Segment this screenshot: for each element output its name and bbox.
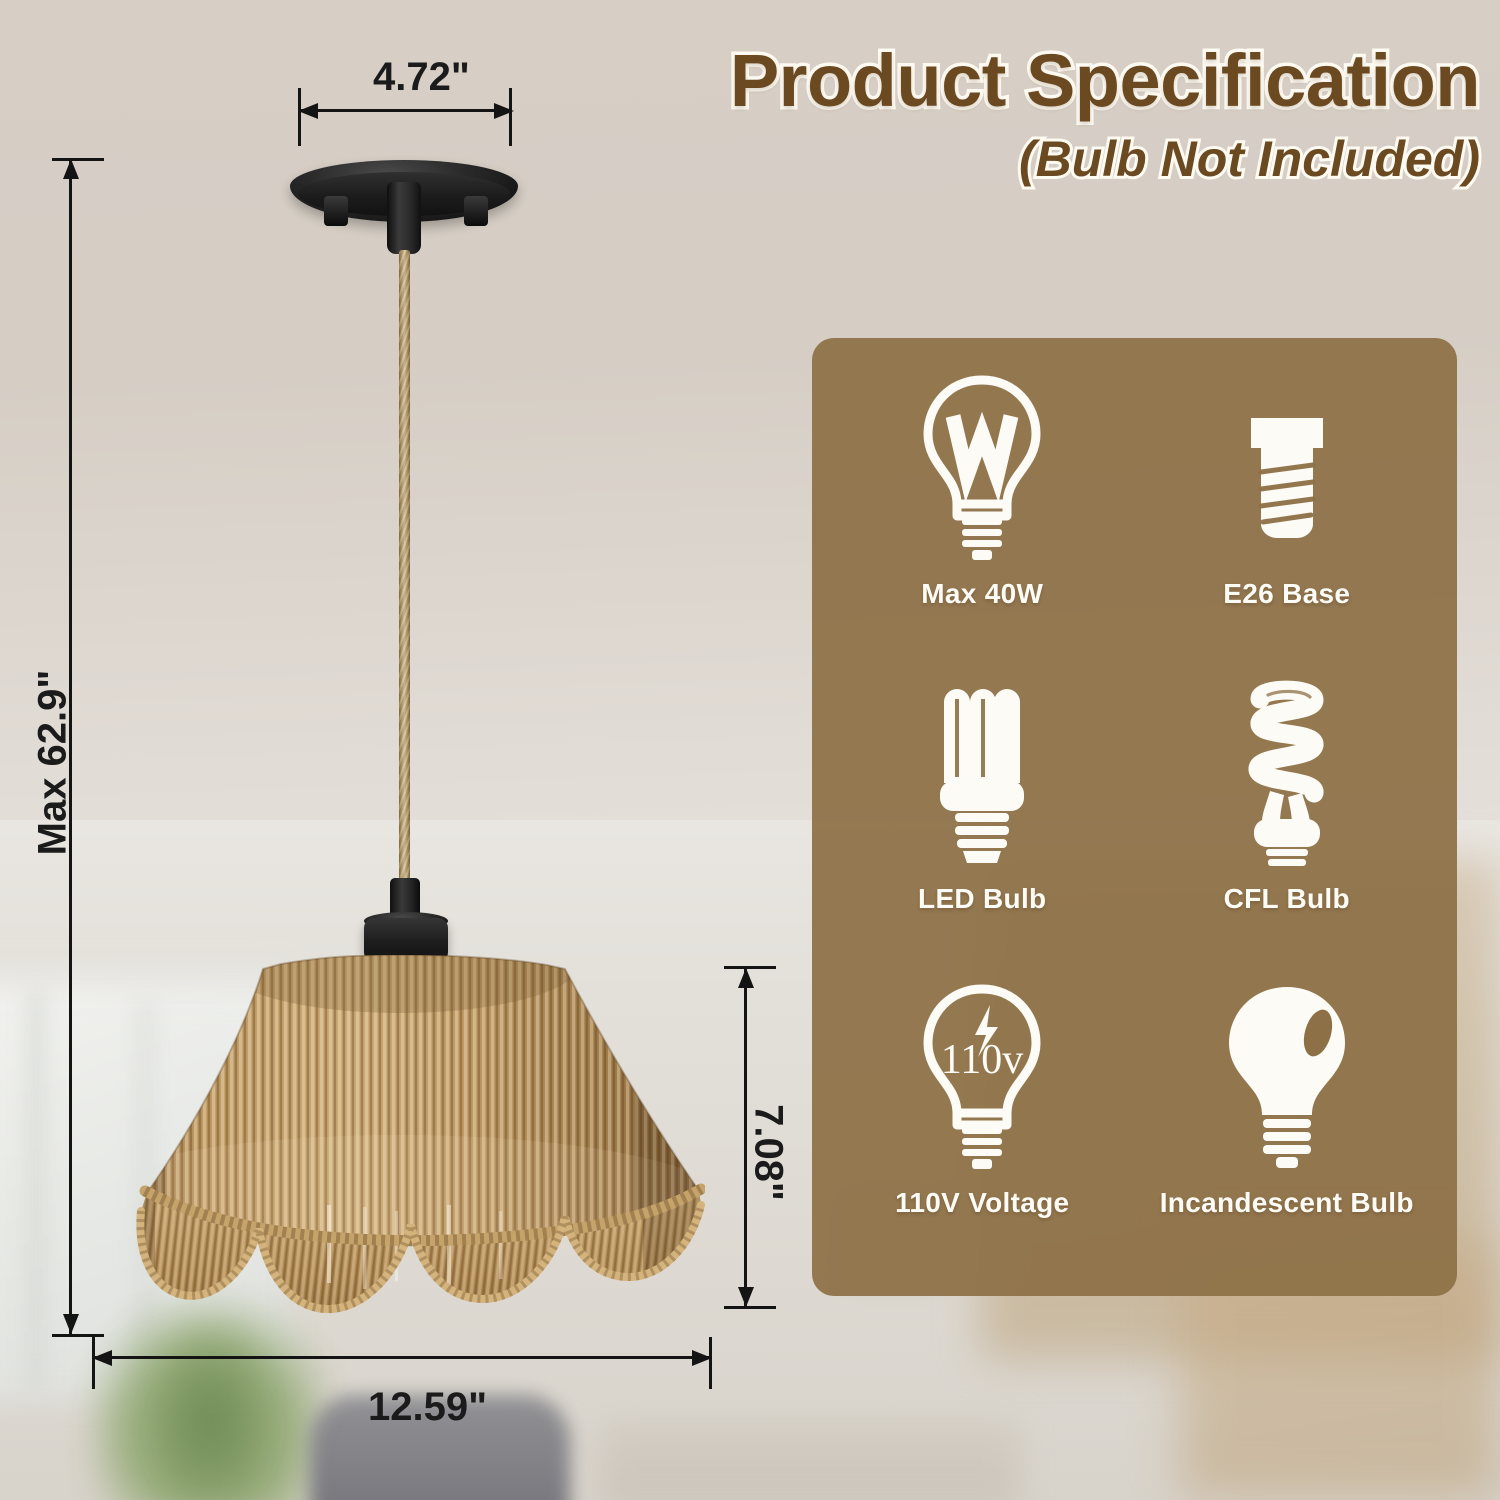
voltage-glyph-text: 110v bbox=[941, 1037, 1023, 1083]
arrow-head-top bbox=[60, 157, 82, 181]
spec-label: CFL Bulb bbox=[1224, 883, 1350, 915]
incandescent-bulb-icon bbox=[1217, 973, 1357, 1173]
page-subtitle: (Bulb Not Included) bbox=[640, 130, 1480, 188]
spec-label: E26 Base bbox=[1223, 578, 1350, 610]
spec-item-voltage[interactable]: 110v 110V Voltage bbox=[830, 973, 1135, 1278]
spec-label: Incandescent Bulb bbox=[1160, 1187, 1414, 1219]
canopy-cord-grip bbox=[387, 182, 421, 254]
spec-item-incandescent-bulb[interactable]: Incandescent Bulb bbox=[1135, 973, 1440, 1278]
bulb-wattage-icon bbox=[912, 364, 1052, 564]
spec-item-cfl-bulb[interactable]: CFL Bulb bbox=[1135, 669, 1440, 974]
pendant-lamp-illustration bbox=[0, 0, 760, 1500]
led-bulb-icon bbox=[927, 669, 1037, 869]
arrow-head-right bbox=[690, 1347, 714, 1369]
dimension-label-max-height: Max 62.9" bbox=[31, 663, 76, 863]
spec-item-led-bulb[interactable]: LED Bulb bbox=[830, 669, 1135, 974]
page-title: Product Specification bbox=[640, 44, 1480, 118]
spec-label: LED Bulb bbox=[918, 883, 1046, 915]
product-spec-image: Product Specification (Bulb Not Included… bbox=[0, 0, 1500, 1500]
arrow-head-bottom bbox=[735, 1285, 757, 1309]
cord-rope-texture bbox=[399, 250, 410, 890]
voltage-bulb-icon: 110v bbox=[912, 973, 1052, 1173]
canopy-screw-hole-right bbox=[464, 196, 488, 226]
arrow-head-left bbox=[296, 100, 320, 122]
e26-screw-base-icon bbox=[1227, 364, 1347, 564]
header: Product Specification (Bulb Not Included… bbox=[640, 44, 1480, 188]
arrow-head-right bbox=[492, 100, 516, 122]
spec-label: 110V Voltage bbox=[895, 1187, 1069, 1219]
dimension-label-shade-width: 12.59" bbox=[368, 1385, 487, 1430]
arrow-head-left bbox=[90, 1347, 114, 1369]
spec-item-e26-base[interactable]: E26 Base bbox=[1135, 364, 1440, 669]
dimension-label-shade-height: 7.08" bbox=[746, 1073, 791, 1233]
dim-arrow-line bbox=[300, 109, 510, 112]
arrow-head-top bbox=[735, 966, 757, 990]
spec-item-max-wattage[interactable]: Max 40W bbox=[830, 364, 1135, 669]
canopy-screw-hole-left bbox=[324, 196, 348, 226]
cfl-spiral-bulb-icon bbox=[1222, 669, 1352, 869]
dimension-label-canopy-width: 4.72" bbox=[373, 55, 470, 100]
dim-arrow-line bbox=[94, 1356, 710, 1359]
arrow-head-bottom bbox=[60, 1312, 82, 1336]
rope-lamp-shade bbox=[95, 955, 705, 1345]
spec-label: Max 40W bbox=[921, 578, 1043, 610]
specification-grid: Max 40W E26 Base bbox=[812, 338, 1457, 1296]
